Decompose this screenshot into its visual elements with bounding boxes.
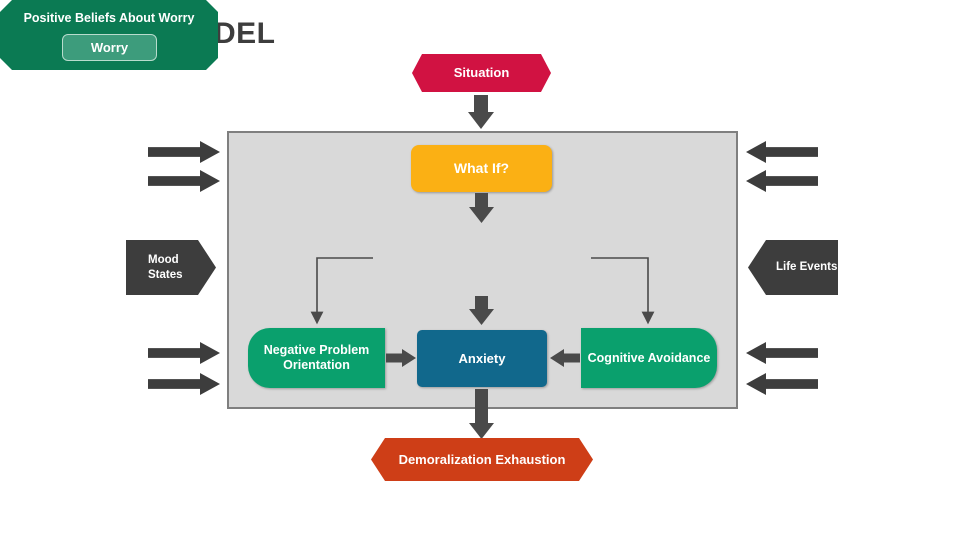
side-arrow-left-top-1 (148, 141, 220, 163)
side-arrow-left-bottom-2 (148, 373, 220, 395)
node-demoralization-exhaustion[interactable]: Demoralization Exhaustion (371, 438, 593, 481)
side-arrow-left-bottom-1 (148, 342, 220, 364)
node-situation[interactable]: Situation (412, 54, 551, 92)
node-positive-beliefs-label: Positive Beliefs About Worry (0, 11, 218, 25)
node-cognitive-avoidance-label: Cognitive Avoidance (588, 351, 711, 366)
arrowhead-anxiety-to-demoralization (469, 423, 494, 439)
arrowhead-situation-to-panel (468, 112, 494, 129)
side-tag-life-events-label: Life Events (776, 260, 837, 275)
node-situation-label: Situation (454, 65, 510, 80)
node-positive-beliefs[interactable]: Positive Beliefs About Worry Worry (0, 0, 218, 70)
side-arrow-right-bottom-1 (746, 342, 818, 364)
node-what-if[interactable]: What If? (411, 145, 552, 192)
node-negative-problem-orientation-label: Negative Problem Orientation (248, 343, 385, 373)
node-demoralization-exhaustion-label: Demoralization Exhaustion (399, 452, 566, 467)
node-what-if-label: What If? (454, 160, 509, 177)
node-anxiety[interactable]: Anxiety (417, 330, 547, 387)
node-anxiety-label: Anxiety (459, 351, 506, 366)
arrow-whatif-to-beliefs (475, 193, 488, 209)
arrow-beliefs-to-anxiety (475, 296, 488, 311)
side-tag-life-events[interactable]: Life Events (748, 240, 838, 295)
node-worry-label: Worry (91, 40, 128, 55)
side-tag-mood-states[interactable]: Mood States (126, 240, 216, 295)
side-arrow-right-top-1 (746, 141, 818, 163)
node-cognitive-avoidance[interactable]: Cognitive Avoidance (581, 328, 717, 388)
side-tag-mood-states-label: Mood States (148, 253, 216, 283)
side-arrow-left-top-2 (148, 170, 220, 192)
node-worry[interactable]: Worry (62, 34, 157, 61)
slide-canvas: WORRY MODEL Situation What If? Positive … (0, 0, 960, 540)
side-arrow-right-bottom-2 (746, 373, 818, 395)
side-arrow-right-top-2 (746, 170, 818, 192)
node-negative-problem-orientation[interactable]: Negative Problem Orientation (248, 328, 385, 388)
arrow-anxiety-to-demoralization (475, 389, 488, 426)
